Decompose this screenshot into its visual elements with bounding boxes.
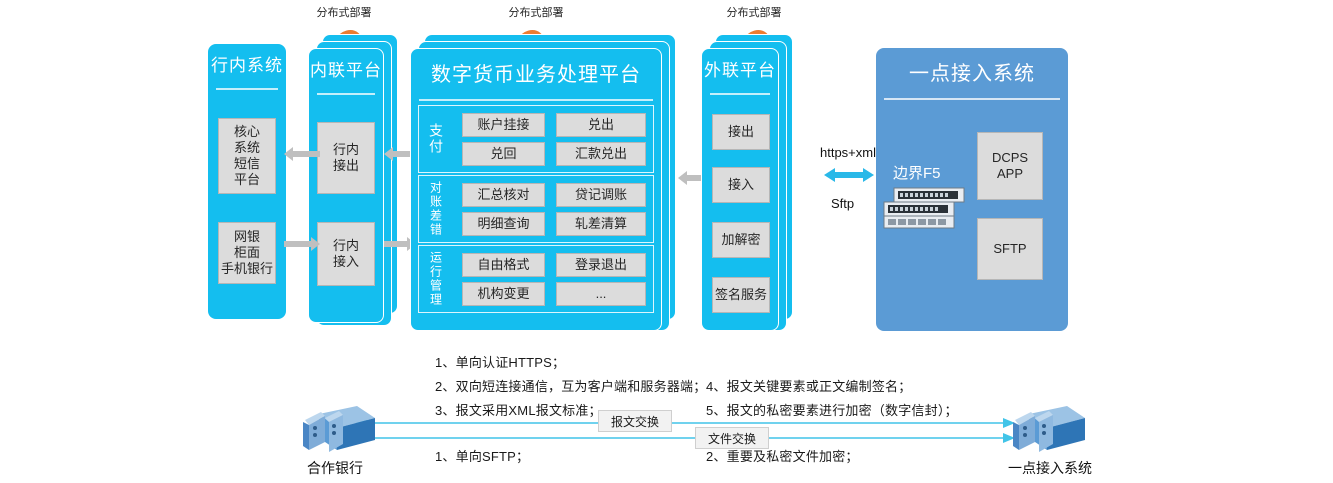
panel-title-outer-platform: 外联平台 (702, 49, 778, 93)
box-outer-egress: 接出 (712, 114, 770, 150)
box-credit-adjust: 贷记调账 (556, 183, 646, 207)
label-sftp-protocol: Sftp (831, 196, 854, 211)
box-line: 网银 (234, 229, 260, 245)
box-line: 行内 (333, 238, 359, 254)
label-file-exchange: 文件交换 (695, 427, 769, 449)
panel-title-inner-platform: 内联平台 (309, 49, 383, 93)
box-remit-redeem-out: 汇款兑出 (556, 142, 646, 166)
architecture-diagram: 分布式部署 分布式部署 分布式部署 行内系统 核心 系统 短信 平台 网银 柜面… (0, 0, 1333, 483)
box-line: 短信 (234, 156, 260, 172)
box-line: 接入 (333, 254, 359, 270)
box-core-system: 核心 系统 短信 平台 (218, 118, 276, 194)
note-left-2: 2、双向短连接通信，互为客户端和服务器端； (435, 376, 706, 395)
box-redeem-out: 兑出 (556, 113, 646, 137)
panel-title-bank-system: 行内系统 (208, 44, 286, 88)
server-icon-partner-bank (295, 400, 377, 456)
label-partner-bank: 合作银行 (285, 458, 385, 478)
label-message-exchange: 报文交换 (598, 410, 672, 432)
box-account-link: 账户挂接 (462, 113, 545, 137)
deploy-label-inner-platform: 分布式部署 (304, 4, 384, 20)
box-free-format: 自由格式 (462, 253, 545, 277)
group-label-operations: 运行管理 (420, 245, 452, 313)
box-redeem-back: 兑回 (462, 142, 545, 166)
box-inner-ingress: 行内 接入 (317, 222, 375, 286)
note-left-1: 1、单向认证HTTPS； (435, 352, 565, 371)
panel-title-core-platform: 数字货币业务处理平台 (411, 49, 661, 101)
box-line: 核心 (234, 124, 260, 140)
box-encrypt-decrypt: 加解密 (712, 222, 770, 258)
box-line: 接出 (333, 158, 359, 174)
label-border-f5: 边界F5 (893, 162, 941, 183)
arrow-protocol-bidirectional (824, 166, 874, 184)
server-icon-access-system (1005, 400, 1087, 456)
label-access-system-bottom: 一点接入系统 (995, 458, 1105, 478)
box-inner-egress: 行内 接出 (317, 122, 375, 194)
box-line: 柜面 (234, 245, 260, 261)
arrow-inner-to-bank-left (284, 146, 320, 162)
group-label-reconciliation: 对账差错 (420, 175, 452, 243)
box-line: DCPS (992, 150, 1028, 166)
panel-title-access-system: 一点接入系统 (876, 48, 1068, 100)
box-line: 行内 (333, 142, 359, 158)
box-line: 系统 (234, 140, 260, 156)
box-detail-query: 明细查询 (462, 212, 545, 236)
box-sftp: SFTP (977, 218, 1043, 280)
box-line: 平台 (234, 172, 260, 188)
box-line: APP (997, 166, 1023, 182)
deploy-label-core-platform: 分布式部署 (496, 4, 576, 20)
arrow-bank-to-inner-right (284, 236, 320, 252)
box-login-logout: 登录退出 (556, 253, 646, 277)
label-https-xml: https+xml (820, 145, 876, 160)
note-right-4: 4、报文关键要素或正文编制签名； (706, 376, 911, 395)
box-summary-check: 汇总核对 (462, 183, 545, 207)
box-signature-service: 签名服务 (712, 277, 770, 313)
group-label-payment: 支付 (420, 105, 452, 173)
box-line: 手机银行 (221, 261, 273, 277)
exchange-flow-lines (355, 413, 1015, 453)
box-org-change: 机构变更 (462, 282, 545, 306)
box-dcps-app: DCPS APP (977, 132, 1043, 200)
box-outer-ingress: 接入 (712, 167, 770, 203)
f5-switch-icon (880, 188, 968, 230)
box-more: ... (556, 282, 646, 306)
box-netting-settlement: 轧差清算 (556, 212, 646, 236)
deploy-label-outer-platform: 分布式部署 (714, 4, 794, 20)
box-ebank-counter-mobile: 网银 柜面 手机银行 (218, 222, 276, 284)
